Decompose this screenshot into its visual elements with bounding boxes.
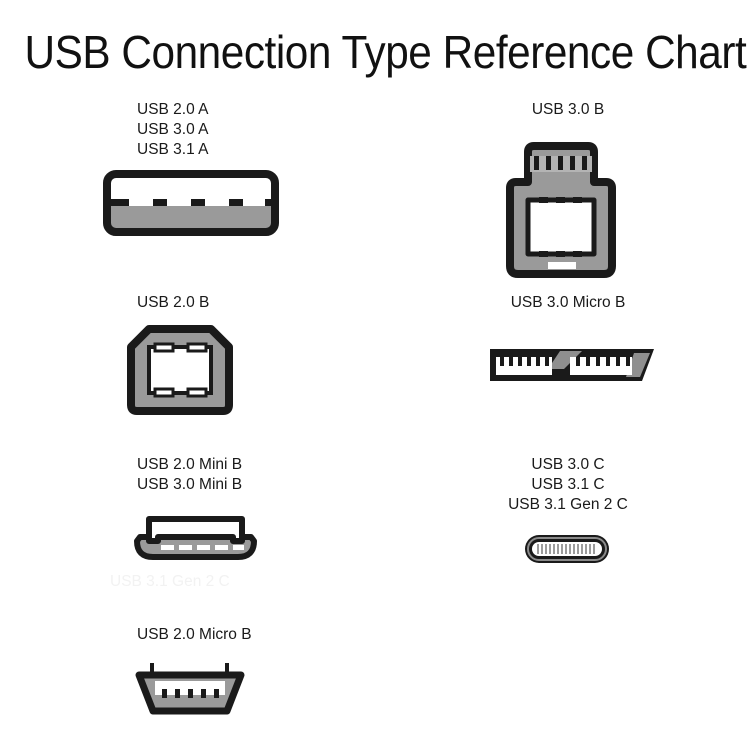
connector-usb-3-0-b: USB 3.0 B [468, 100, 668, 260]
connector-usb-mini-b: USB 2.0 Mini B USB 3.0 Mini B [137, 455, 262, 550]
label-line: USB 3.0 C [468, 455, 668, 475]
connector-label-usb-2-0-b: USB 2.0 B [137, 293, 257, 313]
usb-3-0-b-icon [506, 142, 616, 282]
connector-usb-3-0-micro-b: USB 3.0 Micro B [468, 293, 668, 363]
connector-label-usb-2-0-micro-b: USB 2.0 Micro B [137, 625, 262, 645]
watermark-artifact-text: USB 3.1 Gen 2 C [110, 572, 230, 592]
label-line: USB 2.0 B [137, 293, 257, 313]
connector-art-usb-type-c [523, 533, 723, 569]
connector-usb-2-0-b: USB 2.0 B [137, 293, 257, 408]
usb-2-0-b-icon [125, 323, 245, 418]
connector-label-usb-3-0-micro-b: USB 3.0 Micro B [468, 293, 668, 313]
connector-art-usb-mini-b [133, 513, 258, 568]
usb-type-a-icon [103, 170, 283, 240]
connector-label-usb-3-0-b: USB 3.0 B [468, 100, 668, 120]
connector-art-usb-2-0-b [125, 323, 245, 418]
label-line: USB 2.0 Micro B [137, 625, 262, 645]
usb-type-c-icon [523, 533, 613, 569]
connector-art-usb-type-a [103, 170, 283, 240]
usb-mini-b-icon [133, 513, 258, 568]
page-title: USB Connection Type Reference Chart [24, 26, 725, 78]
connector-usb-type-a: USB 2.0 A USB 3.0 A USB 3.1 A [137, 100, 317, 230]
label-line: USB 3.1 A [137, 140, 317, 160]
connector-label-usb-mini-b: USB 2.0 Mini B USB 3.0 Mini B [137, 455, 262, 495]
usb-2-0-micro-b-icon [129, 661, 254, 721]
connector-label-usb-type-a: USB 2.0 A USB 3.0 A USB 3.1 A [137, 100, 317, 160]
label-line: USB 2.0 Mini B [137, 455, 262, 475]
connector-art-usb-3-0-micro-b [486, 341, 686, 391]
label-line: USB 3.1 Gen 2 C [468, 495, 668, 515]
connector-usb-2-0-micro-b: USB 2.0 Micro B [137, 625, 262, 705]
connector-label-usb-type-c: USB 3.0 C USB 3.1 C USB 3.1 Gen 2 C [468, 455, 668, 515]
label-line: USB 3.0 B [468, 100, 668, 120]
label-line: USB 3.0 Mini B [137, 475, 262, 495]
label-line: USB 2.0 A [137, 100, 317, 120]
label-line: USB 3.0 Micro B [468, 293, 668, 313]
label-line: USB 3.0 A [137, 120, 317, 140]
label-line: USB 3.1 C [468, 475, 668, 495]
connector-art-usb-2-0-micro-b [129, 661, 254, 721]
connector-usb-type-c: USB 3.0 C USB 3.1 C USB 3.1 Gen 2 C [468, 455, 668, 551]
connector-art-usb-3-0-b [506, 142, 706, 282]
usb-reference-chart: USB Connection Type Reference Chart USB … [0, 0, 750, 750]
usb-3-0-micro-b-icon [486, 341, 656, 391]
